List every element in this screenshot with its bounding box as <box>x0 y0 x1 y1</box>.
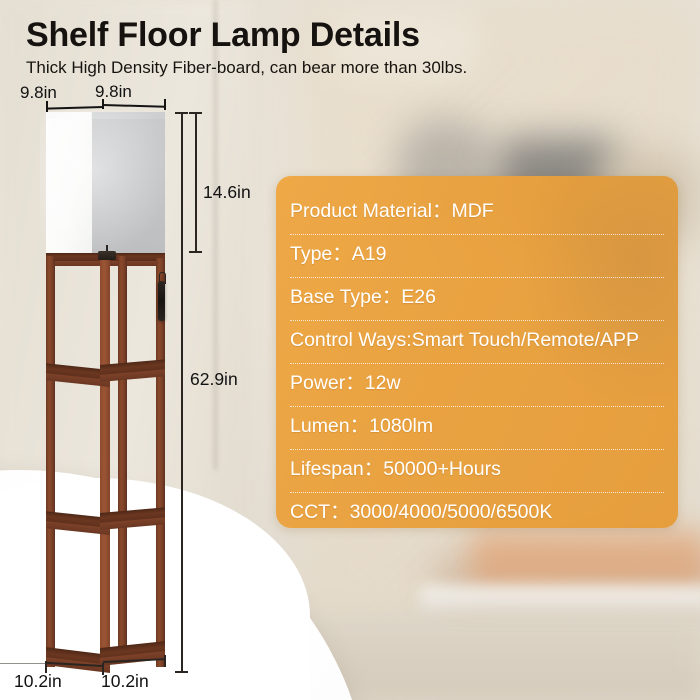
lamp-shade-left-face <box>46 117 92 255</box>
page-title: Shelf Floor Lamp Details <box>26 16 420 55</box>
dim-tick-total-top <box>175 112 188 114</box>
lamp-remote-control <box>158 281 165 321</box>
dim-line-total-height <box>181 112 183 672</box>
spec-row-text: Lumen：1080lm <box>290 415 433 437</box>
dim-tick-shade-height-bottom <box>189 251 202 253</box>
dim-tick-shade-right <box>164 99 166 110</box>
spec-row: Product Material：MDF <box>290 192 664 235</box>
lamp-post-front-corner <box>100 258 110 658</box>
lamp-post-left-outer <box>46 256 55 667</box>
background-shelf <box>420 586 700 612</box>
spec-row: Control Ways:Smart Touch/Remote/APP <box>290 321 664 364</box>
lamp-post-rear <box>118 256 127 655</box>
spec-row: Type：A19 <box>290 235 664 278</box>
specification-list: Product Material：MDFType：A19Base Type：E2… <box>276 176 678 528</box>
spec-row-text: Base Type：E26 <box>290 286 436 308</box>
spec-row: Lumen：1080lm <box>290 407 664 450</box>
spec-row-text: CCT：3000/4000/5000/6500K <box>290 501 552 523</box>
background-floor <box>300 612 700 700</box>
dim-tick-shade-height-top <box>189 112 202 114</box>
background-blur-shape <box>470 530 700 588</box>
dim-leader-base <box>0 663 46 664</box>
dim-label-base-width-left: 10.2in <box>14 671 62 692</box>
dim-label-shade-width-left: 9.8in <box>20 83 57 103</box>
lamp-switch <box>98 251 116 260</box>
lamp-shade-top-cap <box>46 112 165 119</box>
dim-tick-base-right <box>164 655 166 667</box>
spec-row-text: Power：12w <box>290 372 401 394</box>
dim-label-shade-height: 14.6in <box>203 182 251 203</box>
dim-line-shade-height <box>195 112 197 252</box>
spec-row-text: Control Ways:Smart Touch/Remote/APP <box>290 329 639 351</box>
specification-card: Product Material：MDFType：A19Base Type：E2… <box>276 176 678 528</box>
spec-row-text: Product Material：MDF <box>290 200 494 222</box>
page-subtitle: Thick High Density Fiber-board, can bear… <box>26 58 467 78</box>
dim-label-shade-width-right: 9.8in <box>95 82 132 102</box>
dim-label-total-height: 62.9in <box>190 369 238 390</box>
spec-row: Base Type：E26 <box>290 278 664 321</box>
dim-tick-total-bottom <box>175 671 188 673</box>
infographic-canvas: 9.8in 9.8in 14.6in 62.9in 10.2in 10.2in … <box>0 0 700 700</box>
spec-row-text: Lifespan：50000+Hours <box>290 458 501 480</box>
spec-row: Power：12w <box>290 364 664 407</box>
spec-row-text: Type：A19 <box>290 243 386 265</box>
lamp-shade-right-face <box>92 112 165 255</box>
dim-label-base-width-right: 10.2in <box>101 671 149 692</box>
spec-row: CCT：3000/4000/5000/6500K <box>290 493 664 528</box>
spec-row: Lifespan：50000+Hours <box>290 450 664 493</box>
